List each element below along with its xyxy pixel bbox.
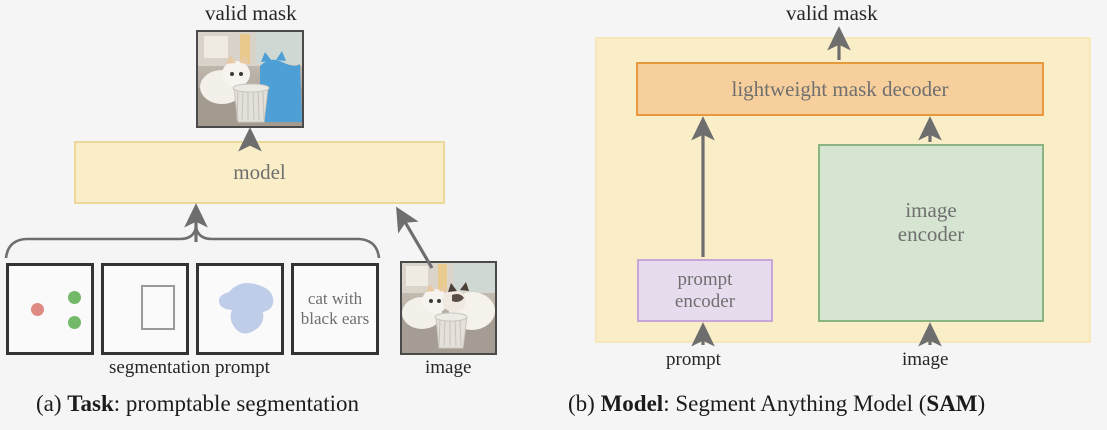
prompt-encoder-label: prompt encoder (639, 261, 771, 320)
text-prompt-label: cat with black ears (294, 266, 376, 352)
mask-prompt-box (196, 263, 284, 355)
figure-root: valid mask (0, 0, 1107, 430)
model-box: model (74, 141, 445, 204)
segmentation-prompt-label: segmentation prompt (109, 357, 270, 379)
caption-b: (b) Model: Segment Anything Model (SAM) (568, 391, 985, 417)
image-encoder-box: image encoder (818, 144, 1044, 322)
mask-blob-shape (199, 266, 281, 352)
caption-a-rest: : promptable segmentation (114, 391, 359, 416)
prompt-group-brace (6, 227, 379, 258)
input-image-thumbnail (400, 261, 497, 355)
points-prompt-box (6, 263, 94, 355)
image-encoder-label-text: image encoder (886, 198, 976, 246)
caption-a-index: (a) (36, 391, 67, 416)
model-box-label: model (76, 143, 443, 202)
image-input-label: image (902, 349, 948, 371)
prompt-encoder-box: prompt encoder (637, 259, 773, 322)
bounding-box-prompt-box (101, 263, 189, 355)
caption-b-bold2: SAM (926, 391, 977, 416)
prompt-input-label: prompt (666, 349, 721, 371)
caption-a: (a) Task: promptable segmentation (36, 391, 359, 417)
prompt-encoder-label-text: prompt encoder (665, 269, 745, 313)
caption-b-bold: Model (601, 391, 664, 416)
arrow-image-to-model (398, 210, 432, 268)
lightweight-mask-decoder-box: lightweight mask decoder (636, 62, 1044, 116)
image-encoder-label: image encoder (820, 146, 1042, 372)
valid-mask-photo-art (198, 32, 302, 126)
bounding-box-rect (141, 285, 175, 330)
valid-mask-label-a: valid mask (205, 1, 297, 26)
valid-mask-label-b: valid mask (786, 1, 878, 26)
valid-mask-photo (196, 30, 304, 128)
image-label-a: image (425, 357, 471, 379)
caption-b-rest: : Segment Anything Model ( (663, 391, 926, 416)
positive-point-dot-1 (68, 291, 81, 304)
text-prompt-box: cat with black ears (291, 263, 379, 355)
input-image-art (402, 263, 495, 353)
positive-point-dot-2 (68, 316, 81, 329)
caption-b-index: (b) (568, 391, 601, 416)
negative-point-dot (31, 303, 44, 316)
caption-b-tail: ) (978, 391, 986, 416)
lightweight-mask-decoder-label: lightweight mask decoder (638, 64, 1042, 114)
caption-a-bold: Task (67, 391, 113, 416)
